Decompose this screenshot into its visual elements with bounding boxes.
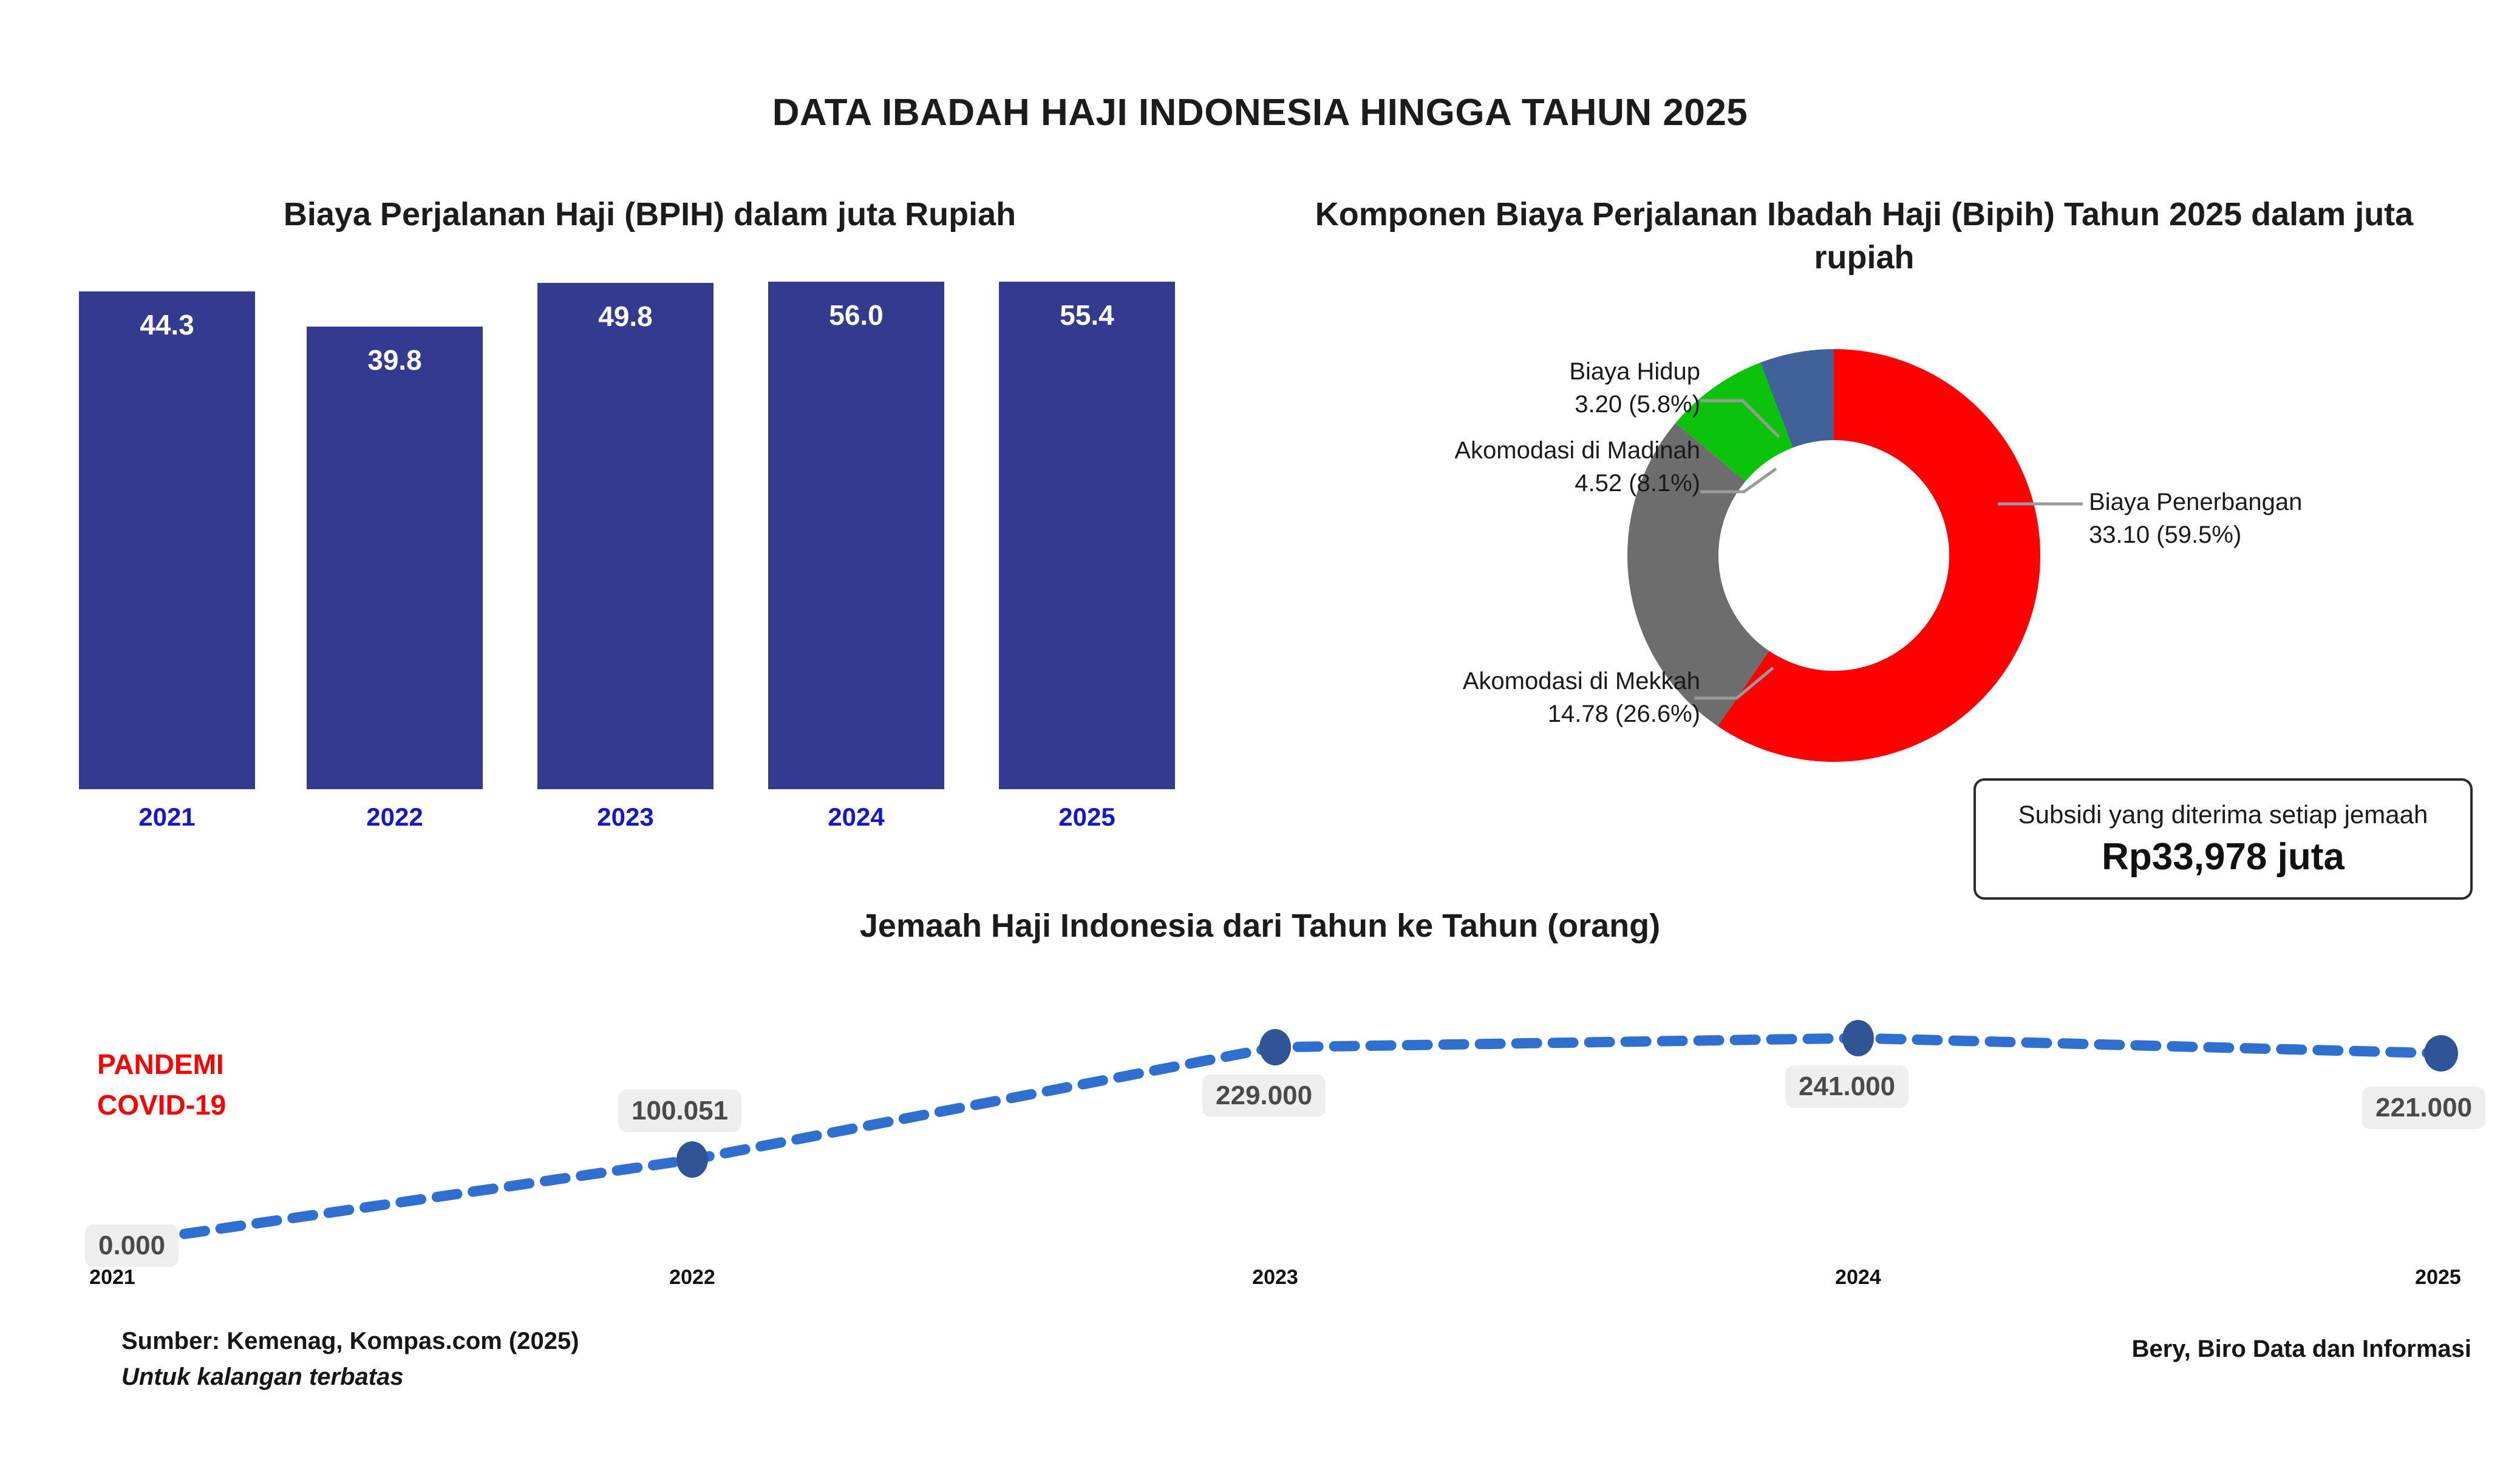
footer-credit: Bery, Biro Data dan Informasi [2132,1336,2471,1363]
page-title: DATA IBADAH HAJI INDONESIA HINGGA TAHUN … [0,91,2520,134]
line-value-label: 100.051 [618,1090,741,1132]
bar-value-label: 55.4 [999,299,1175,331]
donut-chart-title: Komponen Biaya Perjalanan Ibadah Haji (B… [1269,193,2459,280]
donut-label-biaya-hidup: Biaya Hidup 3.20 (5.8%) [1275,355,1700,421]
donut-label-value: 14.78 (26.6%) [1275,698,1700,730]
line-year-label: 2025 [2392,1266,2484,1289]
bar-column[interactable]: 44.3 2021 [79,267,255,789]
line-year-label: 2024 [1813,1266,1904,1289]
bar-column[interactable]: 56.0 2024 [768,267,944,789]
bar-value-label: 39.8 [307,344,483,376]
subsidy-caption: Subsidi yang diterima setiap jemaah [2018,800,2428,829]
line-value-label: 229.000 [1202,1075,1326,1117]
bar-year-label: 2024 [768,803,944,832]
bar-value-label: 49.8 [537,300,713,333]
bar-chart: 44.3 2021 39.8 2022 49.8 2023 56.0 2024 … [0,267,1245,789]
line-value-label: 0.000 [85,1224,179,1267]
bar-rect: 44.3 [79,291,255,789]
line-year-label: 2022 [647,1266,738,1289]
bar-year-label: 2023 [537,803,713,832]
donut-label-biaya-penerbangan: Biaya Penerbangan 33.10 (59.5%) [2089,486,2514,551]
donut-label-value: 33.10 (59.5%) [2089,518,2514,551]
line-year-label: 2023 [1230,1266,1321,1289]
bar-value-label: 56.0 [768,299,944,331]
donut-label-name: Biaya Hidup [1275,355,1700,388]
bar-rect: 49.8 [537,283,713,789]
bar-year-label: 2021 [79,803,255,832]
line-year-label: 2021 [67,1266,158,1289]
line-value-label: 241.000 [1785,1065,1909,1108]
donut-label-value: 3.20 (5.8%) [1275,388,1700,421]
footer-source: Sumber: Kemenag, Kompas.com (2025) Untuk… [121,1323,579,1395]
donut-label-akomodasi-mekkah: Akomodasi di Mekkah 14.78 (26.6%) [1275,665,1700,730]
bar-column[interactable]: 39.8 2022 [307,267,483,789]
donut-label-akomodasi-madinah: Akomodasi di Madinah 4.52 (8.1%) [1239,434,1700,500]
subsidy-callout-box: Subsidi yang diterima setiap jemaah Rp33… [1973,778,2473,900]
footer-source-line2: Untuk kalangan terbatas [121,1359,579,1395]
line-marker[interactable] [1259,1029,1291,1065]
line-chart-svg [0,959,2520,1299]
line-marker[interactable] [1842,1020,1874,1056]
line-marker[interactable] [2424,1035,2458,1072]
bar-column[interactable]: 55.4 2025 [999,267,1175,789]
line-marker[interactable] [676,1141,708,1178]
bar-year-label: 2025 [999,803,1175,832]
line-series-path [112,1038,2441,1245]
bar-year-label: 2022 [307,803,483,832]
bar-rect: 56.0 [768,282,944,789]
donut-label-name: Akomodasi di Mekkah [1275,665,1700,698]
bar-value-label: 44.3 [79,308,255,341]
bar-rect: 39.8 [307,327,483,789]
footer-source-line1: Sumber: Kemenag, Kompas.com (2025) [121,1323,579,1359]
donut-label-name: Biaya Penerbangan [2089,486,2514,518]
donut-label-name: Akomodasi di Madinah [1239,434,1700,467]
line-chart-title: Jemaah Haji Indonesia dari Tahun ke Tahu… [486,905,2034,948]
subsidy-amount: Rp33,978 juta [2102,835,2345,878]
bar-column[interactable]: 49.8 2023 [537,267,713,789]
bar-rect: 55.4 [999,282,1175,789]
donut-label-value: 4.52 (8.1%) [1239,467,1700,500]
line-value-label: 221.000 [2362,1087,2485,1129]
line-chart: 0.000 100.051 229.000 241.000 221.000 20… [0,959,2520,1299]
bar-chart-title: Biaya Perjalanan Haji (BPIH) dalam juta … [73,193,1227,236]
